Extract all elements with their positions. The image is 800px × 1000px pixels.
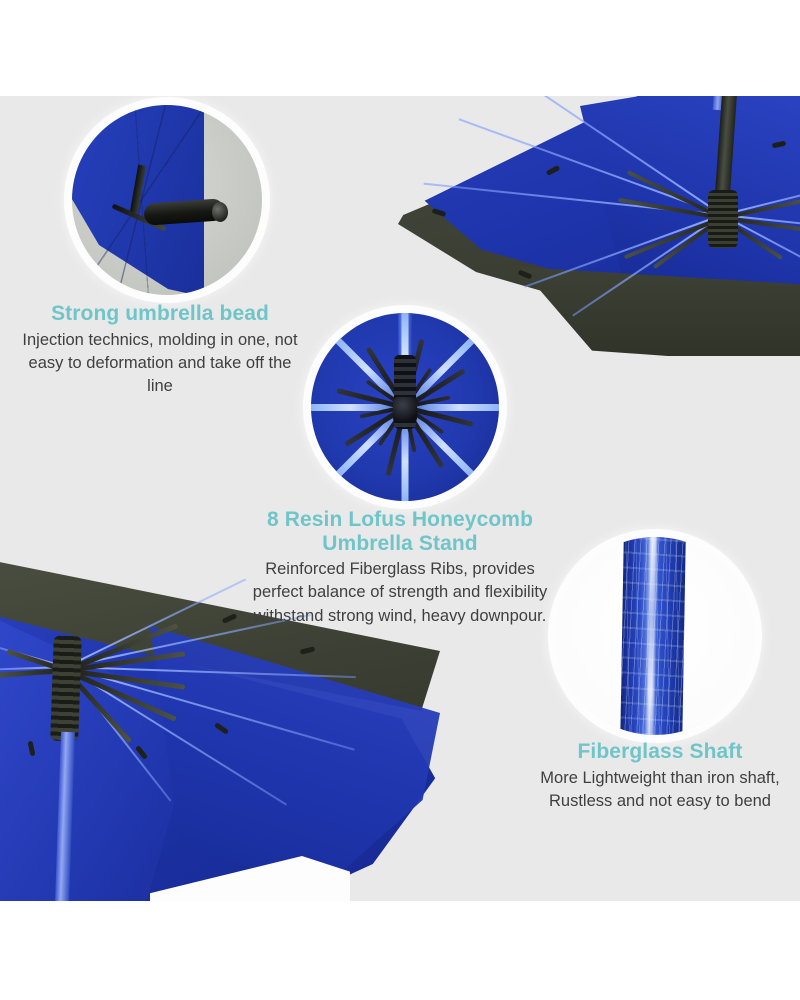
umbrella-hub: [708, 190, 738, 248]
feature-title-fiberglass-shaft: Fiberglass Shaft: [520, 740, 800, 764]
umbrella-stand-inset-photo: [311, 313, 499, 501]
feature-block-umbrella-stand: 8 Resin Lofus Honeycomb Umbrella Stand R…: [246, 508, 554, 628]
feature-block-fiberglass-shaft: Fiberglass Shaft More Lightweight than i…: [520, 740, 800, 813]
feature-description-fiberglass-shaft: More Lightweight than iron shaft, Rustle…: [520, 767, 800, 814]
umbrella-bead-inset-photo: [72, 105, 262, 295]
fiberglass-shaft-inset-photo: [556, 537, 754, 735]
feature-description-umbrella-bead: Injection technics, molding in one, not …: [14, 329, 306, 399]
feature-description-umbrella-stand: Reinforced Fiberglass Ribs, provides per…: [246, 558, 554, 628]
feature-block-umbrella-bead: Strong umbrella bead Injection technics,…: [14, 302, 306, 399]
infographic-panel: Strong umbrella bead Injection technics,…: [0, 96, 800, 901]
umbrella-hub: [50, 636, 82, 742]
product-infographic: Strong umbrella bead Injection technics,…: [0, 0, 800, 1000]
umbrella-bead-cap: [211, 201, 228, 222]
honeycomb-hub: [393, 397, 417, 423]
feature-title-umbrella-bead: Strong umbrella bead: [14, 302, 306, 326]
feature-title-umbrella-stand: 8 Resin Lofus Honeycomb Umbrella Stand: [246, 508, 554, 555]
